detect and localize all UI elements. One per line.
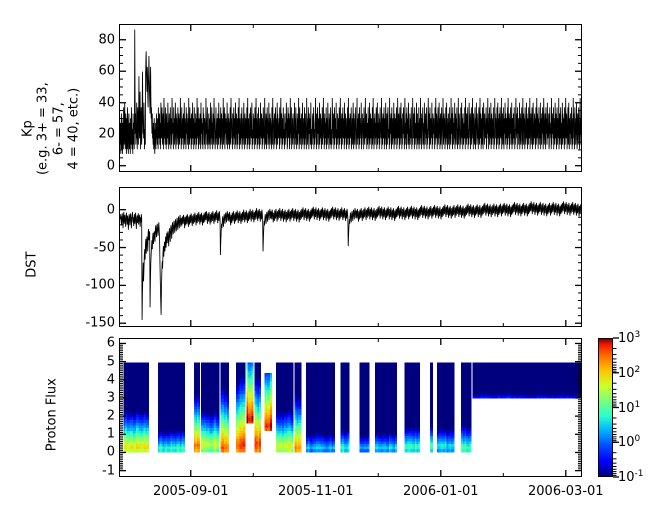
y-tick-label: 60 [98, 65, 115, 78]
dst-line-plot [120, 188, 581, 326]
dst-axis-title: DST [24, 225, 39, 305]
colorbar [598, 338, 613, 477]
x-tick-label: 2006-03-01 [528, 484, 604, 499]
y-tick-label: 0 [107, 203, 115, 216]
kp-axis-title-line4: 4 = 40, etc.) [66, 44, 81, 214]
y-tick-label: 6 [107, 337, 115, 350]
panel-dst [119, 187, 582, 327]
kp-axis-title-line3: 6- = 57, [51, 44, 66, 214]
y-tick-label: 80 [98, 33, 115, 46]
colorbar-tick-label: 100 [618, 435, 640, 449]
panel-kp [119, 24, 582, 172]
y-tick-label: 5 [107, 355, 115, 368]
y-tick-label: -50 [94, 241, 115, 254]
y-tick-label: -1 [102, 464, 115, 477]
x-tick-label: 2005-11-01 [278, 484, 354, 499]
colorbar-tick-label: 10-1 [618, 470, 644, 484]
y-tick-label: 0 [107, 159, 115, 172]
panel-proton-flux [119, 338, 582, 477]
colorbar-tick-label: 101 [618, 400, 640, 414]
kp-axis-title-line2: (e.g. 3+ = 33, [36, 44, 51, 214]
y-tick-label: 4 [107, 373, 115, 386]
colorbar-tick-label: 102 [618, 366, 640, 380]
proton-flux-spectrogram [120, 339, 581, 476]
y-tick-label: -150 [85, 317, 115, 330]
y-tick-label: 1 [107, 428, 115, 441]
figure-canvas: 020406080 0-50-100-150 -10123456 Kp (e.g… [0, 0, 665, 523]
y-tick-label: 0 [107, 446, 115, 459]
proton-flux-axis-title: Proton Flux [44, 355, 59, 475]
kp-axis-title: Kp (e.g. 3+ = 33, 6- = 57, 4 = 40, etc.) [20, 44, 81, 214]
x-tick-label: 2006-01-01 [403, 484, 479, 499]
x-tick-label: 2005-09-01 [153, 484, 229, 499]
y-tick-label: 20 [98, 128, 115, 141]
y-tick-label: -100 [85, 279, 115, 292]
y-tick-label: 40 [98, 96, 115, 109]
y-tick-label: 2 [107, 410, 115, 423]
kp-axis-title-line1: Kp [20, 44, 35, 214]
kp-line-plot [120, 25, 581, 171]
colorbar-tick-label: 103 [618, 331, 640, 345]
y-tick-label: 3 [107, 391, 115, 404]
